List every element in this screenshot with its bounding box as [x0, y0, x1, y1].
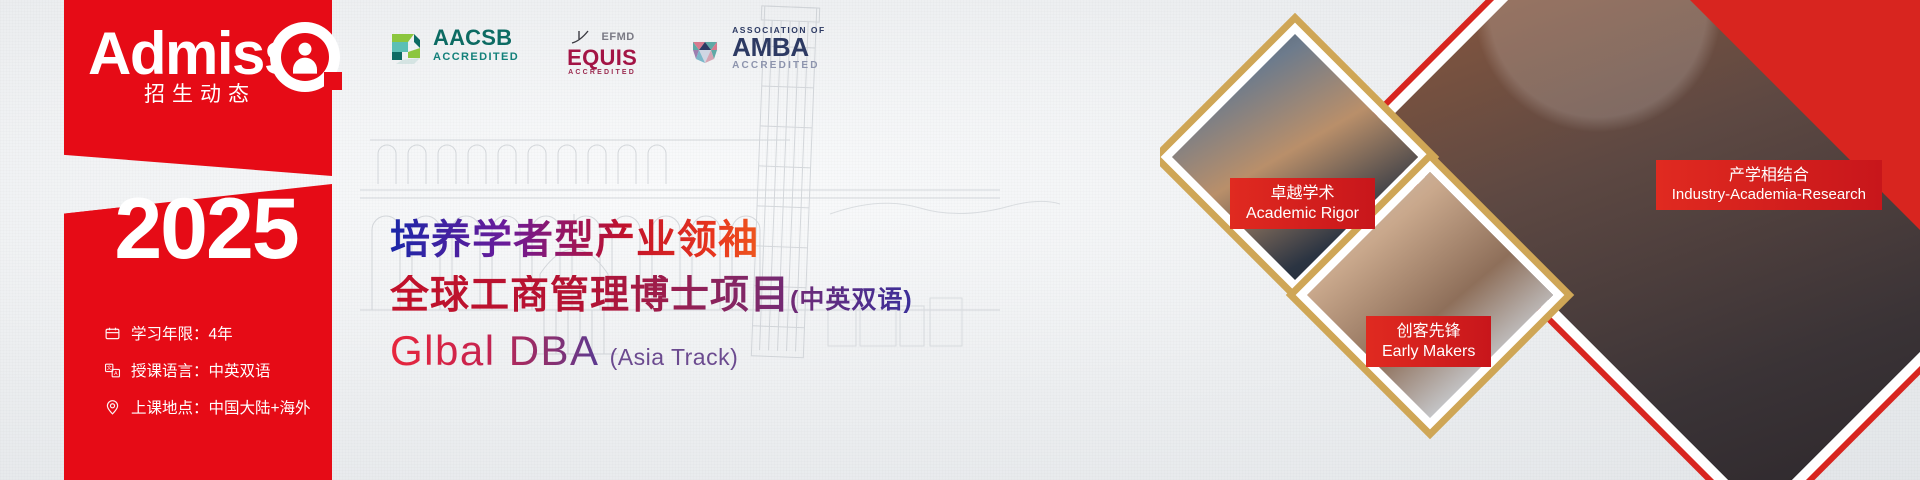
headline-line-3-main: Glbal DBA — [390, 330, 600, 372]
headline-block: 培养学者型产业领袖 全球工商管理博士项目 (中英双语) Glbal DBA (A… — [390, 218, 913, 372]
badge-label-industry-academia: 产学相结合 Industry-Academia-Research — [1656, 160, 1882, 210]
admission-banner: Admissi 招生动态 2025 学习年限：4年 — [0, 0, 1920, 480]
amba-text: ASSOCIATION OF AMBA ACCREDITED — [732, 26, 826, 72]
badge-en-industry-academia: Industry-Academia-Research — [1672, 186, 1866, 204]
headline-line-3-sub: (Asia Track) — [610, 344, 739, 371]
equis-line1: EQUIS — [567, 46, 637, 69]
photo-collage: 卓越学术 Academic Rigor 创客先锋 Early Makers 产学… — [1160, 0, 1920, 480]
headline-line-1: 培养学者型产业领袖 — [390, 218, 913, 263]
amba-diamond-icon — [685, 29, 725, 69]
info-text-location: 上课地点：中国大陆+海外 — [131, 396, 311, 418]
person-avatar-icon — [270, 22, 340, 92]
efmd-label: EFMD — [602, 31, 635, 43]
badge-cn-early-makers: 创客先锋 — [1382, 322, 1475, 342]
headline-line-3: Glbal DBA (Asia Track) — [390, 330, 913, 372]
headline-line-2: 全球工商管理博士项目 (中英双语) — [390, 275, 913, 318]
svg-text:A: A — [114, 371, 118, 377]
badge-label-early-makers: 创客先锋 Early Makers — [1366, 316, 1491, 367]
amba-line3: ACCREDITED — [732, 59, 826, 72]
aacsb-line1: AACSB — [433, 25, 512, 50]
amba-logo: ASSOCIATION OF AMBA ACCREDITED — [685, 26, 826, 72]
svg-text:文: 文 — [107, 364, 112, 371]
accreditation-logos: AACSB ACCREDITED EFMD EQUIS ACCREDITED — [386, 26, 826, 76]
aacsb-cube-icon — [386, 26, 426, 66]
aacsb-text: AACSB ACCREDITED — [433, 27, 519, 64]
badge-cn-industry-academia: 产学相结合 — [1672, 166, 1866, 186]
calendar-icon — [104, 325, 121, 342]
location-pin-icon — [104, 399, 121, 416]
badge-en-early-makers: Early Makers — [1382, 342, 1475, 362]
info-row-location: 上课地点：中国大陆+海外 — [104, 396, 311, 418]
admission-logo: Admissi 招生动态 — [88, 24, 348, 120]
aacsb-line2: ACCREDITED — [433, 50, 519, 64]
year-label: 2025 — [86, 186, 326, 272]
language-icon: 文 A — [104, 362, 121, 379]
info-text-language: 授课语言：中英双语 — [131, 359, 271, 381]
efmd-swoosh-icon — [570, 28, 598, 46]
info-row-language: 文 A 授课语言：中英双语 — [104, 359, 311, 381]
admission-subtitle-cn: 招生动态 — [144, 78, 256, 108]
info-row-duration: 学习年限：4年 — [104, 322, 311, 344]
info-text-duration: 学习年限：4年 — [131, 322, 233, 344]
amba-line2: AMBA — [732, 35, 826, 60]
program-info-list: 学习年限：4年 文 A 授课语言：中英双语 上课地点：中国大陆+海外 — [104, 322, 311, 433]
aacsb-logo: AACSB ACCREDITED — [386, 26, 519, 66]
badge-cn-academic-rigor: 卓越学术 — [1246, 184, 1359, 204]
badge-label-academic-rigor: 卓越学术 Academic Rigor — [1230, 178, 1375, 229]
badge-en-academic-rigor: Academic Rigor — [1246, 204, 1359, 224]
equis-line2: ACCREDITED — [567, 69, 637, 76]
headline-line-2-main: 全球工商管理博士项目 — [390, 275, 790, 318]
headline-line-2-paren: (中英双语) — [790, 287, 913, 315]
equis-logo: EFMD EQUIS ACCREDITED — [567, 26, 637, 76]
